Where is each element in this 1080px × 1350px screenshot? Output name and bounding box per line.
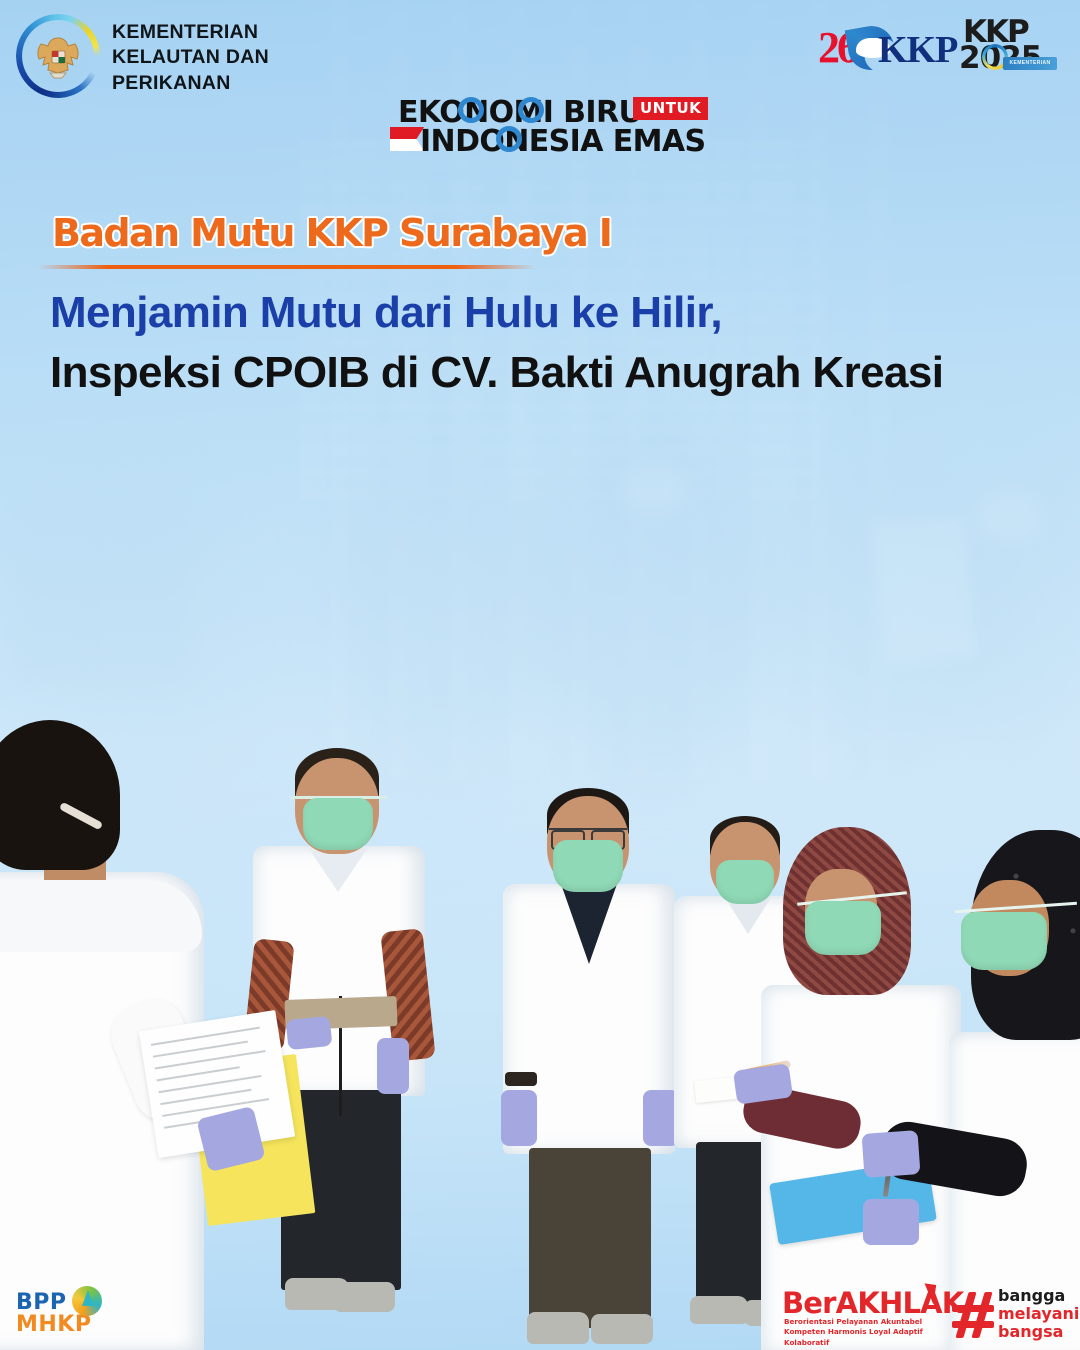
kkp-2025-logo: KKP 2025 KEMENTERIAN (955, 14, 1063, 78)
wristwatch-icon (505, 1072, 537, 1086)
foreground-photo-group (0, 690, 1080, 1350)
person-a-back-facing-left (0, 720, 270, 1350)
bpp-mhkp-logo: BPP MHKP (14, 1288, 124, 1342)
ekonomi-biru-tagline: EKONOMI BIRU INDONESIA EMAS UNTUK (390, 95, 710, 157)
kicker-label: Badan Mutu KKP Surabaya I (52, 211, 611, 255)
bpp-line-2: MHKP (16, 1312, 91, 1337)
hashtag-icon (954, 1292, 992, 1338)
person-b-batik-clipboard (255, 750, 445, 1330)
kicker-underline (38, 265, 536, 269)
headline-line-1: Menjamin Mutu dari Hulu ke Hilir, (50, 285, 1010, 341)
face-mask-icon-c (553, 840, 623, 892)
ministry-name-line-3: PERIKANAN (112, 71, 269, 96)
ministry-name-line-2: KELAUTAN DAN (112, 45, 269, 70)
person-f-hijab-black-right (955, 840, 1080, 1350)
berakhlak-subtitle: Berorientasi Pelayanan Akuntabel Kompete… (784, 1317, 952, 1348)
bangga-line-2: melayani (998, 1304, 1079, 1323)
berakhlak-title: BerAKHLAK (782, 1286, 963, 1320)
poster-root: KEMENTERIAN KELAUTAN DAN PERIKANAN 26 KK… (0, 0, 1080, 1350)
o-ring-decor-icon-2 (518, 97, 544, 123)
o-ring-decor-icon (458, 97, 484, 123)
headline-block: Menjamin Mutu dari Hulu ke Hilir, Inspek… (50, 285, 1010, 402)
tagline-line-2: INDONESIA EMAS (420, 124, 705, 159)
header-bar: KEMENTERIAN KELAUTAN DAN PERIKANAN 26 KK… (0, 0, 1080, 100)
kkp-wordmark: KKP (878, 28, 957, 72)
bangga-melayani-bangsa-logo: bangga melayani bangsa (954, 1286, 1074, 1344)
ministry-name-line-1: KEMENTERIAN (112, 20, 269, 45)
bangga-line-1: bangga (998, 1286, 1065, 1305)
face-mask-icon-f (961, 912, 1047, 970)
bangga-line-3: bangsa (998, 1322, 1063, 1341)
garuda-pancasila-emblem-icon (16, 14, 100, 98)
ministry-name: KEMENTERIAN KELAUTAN DAN PERIKANAN (112, 20, 269, 96)
footer-bar: BPP MHKP BerAKHLAK Berorientasi Pelayana… (0, 1280, 1080, 1350)
face-mask-icon (303, 798, 373, 850)
berakhlak-logo: BerAKHLAK Berorientasi Pelayanan Akuntab… (782, 1286, 952, 1342)
face-mask-icon-e (805, 901, 881, 955)
o-ring-decor-icon-3 (496, 126, 522, 152)
indonesia-flag-icon (390, 127, 424, 151)
person-c-glasses-center (505, 790, 695, 1350)
headline-line-2: Inspeksi CPOIB di CV. Bakti Anugrah Krea… (50, 345, 1010, 401)
person-e-hijab-maroon-writing (765, 835, 965, 1350)
garuda-icon (32, 35, 84, 81)
kkp2025-badge: KEMENTERIAN (1003, 57, 1057, 70)
untuk-badge: UNTUK (633, 97, 708, 120)
kkp-26th-anniversary-logo: 26 KKP (818, 20, 944, 76)
